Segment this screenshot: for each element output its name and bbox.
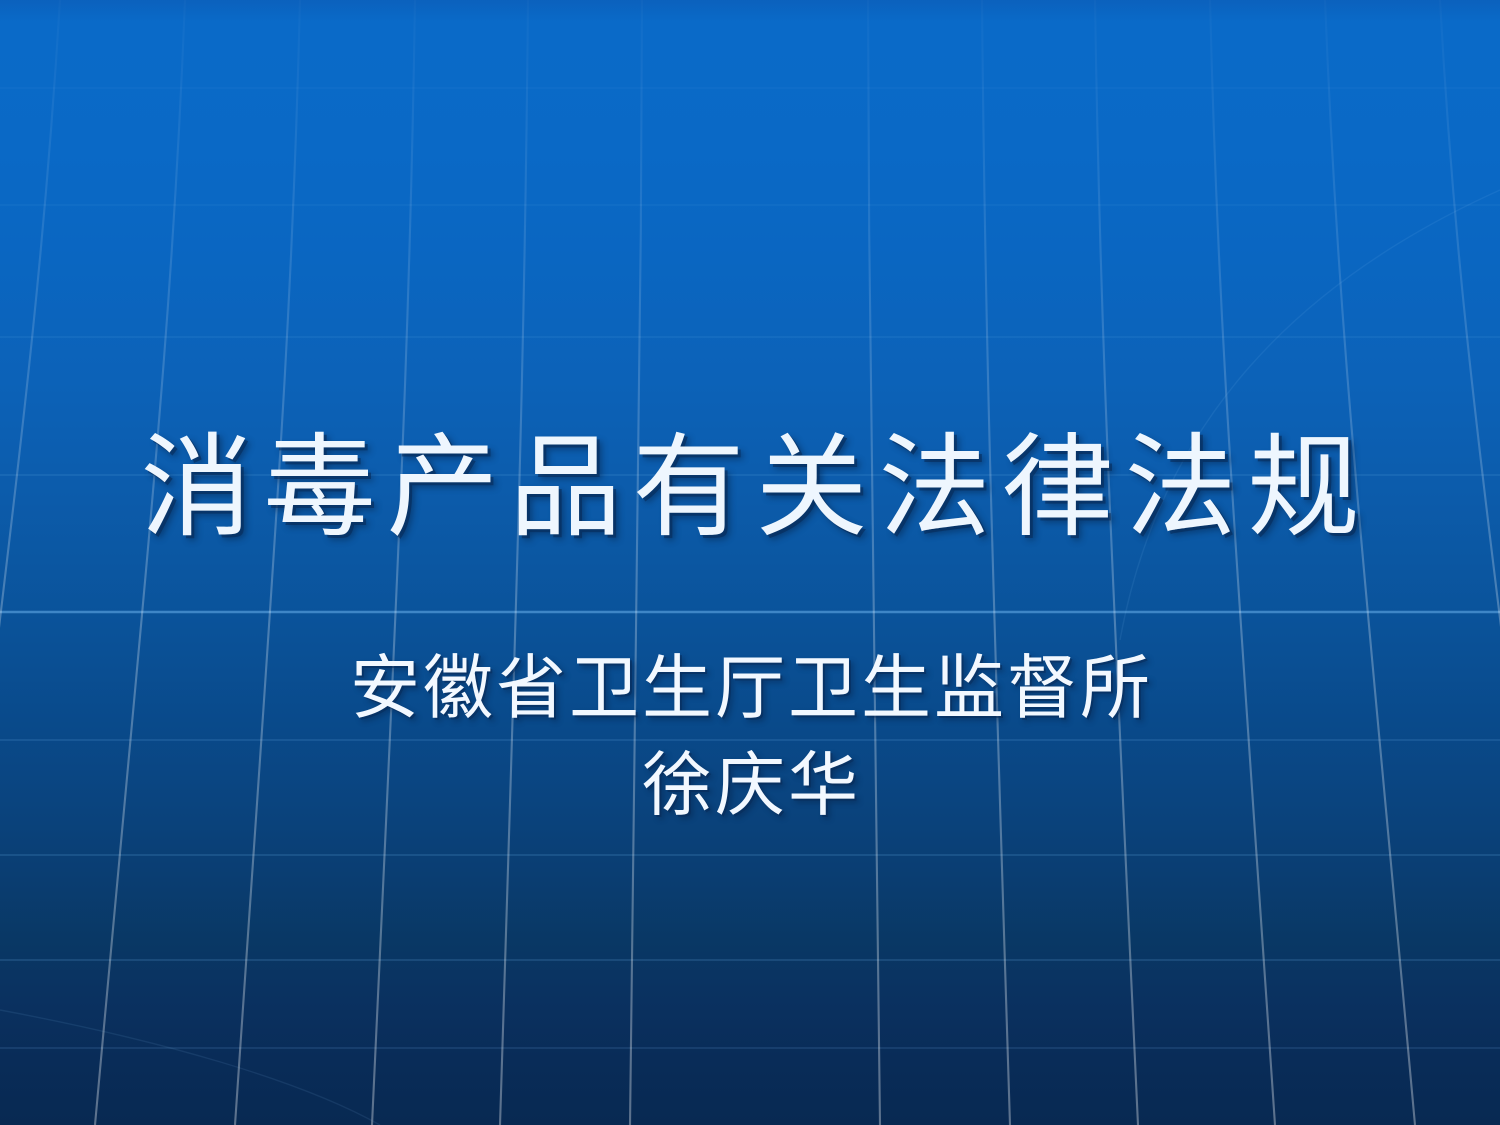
title-placeholder: 消毒产品有关法律法规 [0, 424, 1500, 553]
slide-content: 消毒产品有关法律法规 安徽省卫生厅卫生监督所 徐庆华 [0, 0, 1500, 1125]
page-title: 消毒产品有关法律法规 [130, 424, 1371, 553]
subtitle-organization: 安徽省卫生厅卫生监督所 [0, 640, 1500, 737]
subtitle-author: 徐庆华 [0, 737, 1500, 834]
subtitle-placeholder: 安徽省卫生厅卫生监督所 徐庆华 [0, 640, 1500, 833]
title-slide: 消毒产品有关法律法规 安徽省卫生厅卫生监督所 徐庆华 [0, 0, 1500, 1125]
